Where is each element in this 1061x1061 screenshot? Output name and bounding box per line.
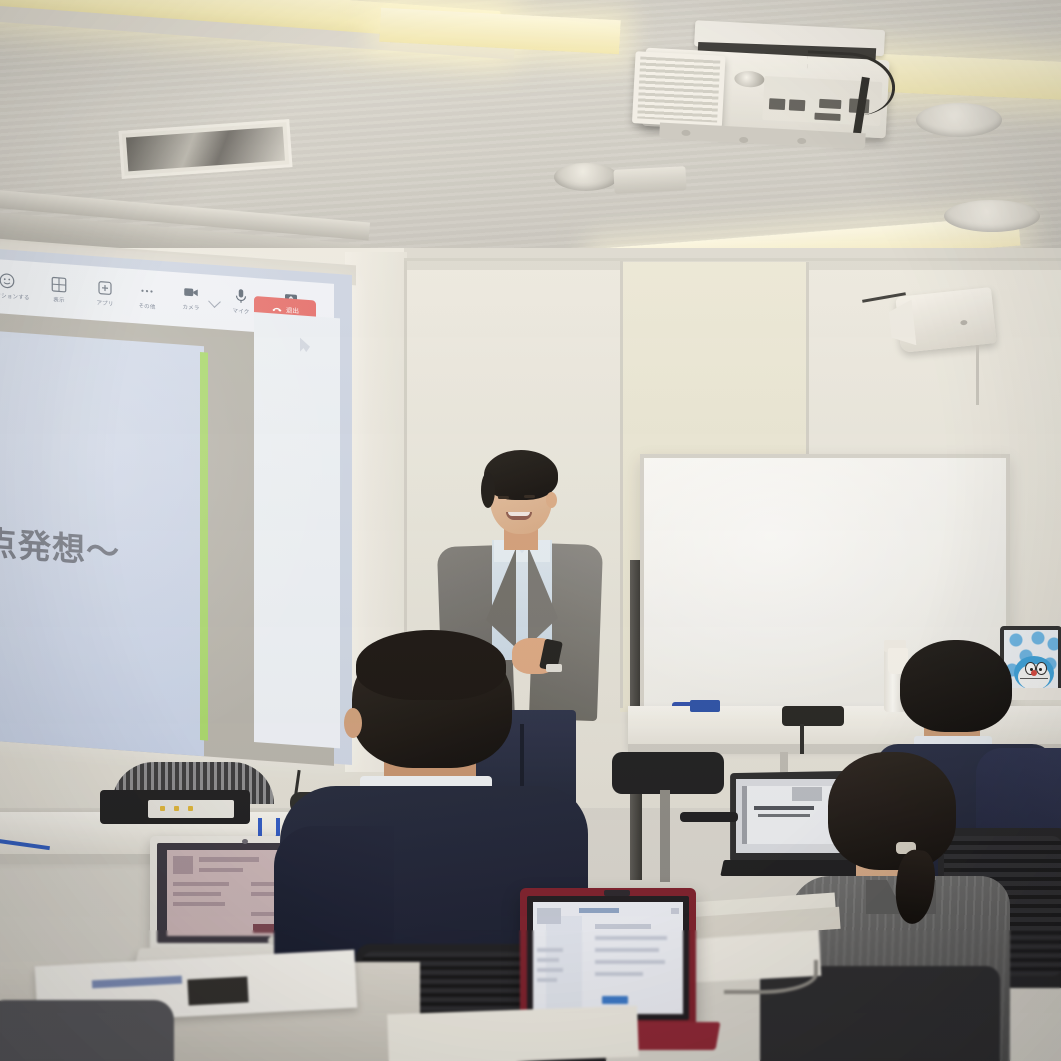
- partition-top-rail: [404, 258, 1061, 261]
- status-led-icon: [188, 806, 193, 811]
- camera-label: カメラ: [168, 302, 214, 313]
- window-control-icon: [671, 908, 679, 914]
- camera-icon-button[interactable]: カメラ: [168, 282, 214, 313]
- hub-cable: [800, 724, 804, 754]
- camera-icon: [182, 283, 200, 302]
- app-title: [579, 908, 619, 913]
- webcam-icon: [604, 890, 630, 896]
- chair-stem: [660, 790, 670, 882]
- smoke-detector-icon: [613, 166, 686, 194]
- apps-icon-button[interactable]: アプリ: [82, 277, 128, 308]
- foreground-chair: [0, 1000, 174, 1061]
- content-line: [199, 868, 243, 872]
- hair: [900, 640, 1012, 732]
- ceiling-speaker-icon: [554, 163, 618, 191]
- form-line: [595, 972, 643, 976]
- grille-slats: [637, 56, 720, 122]
- grid-view-icon-button[interactable]: 表示: [36, 274, 82, 305]
- sidebar-item: [537, 968, 563, 972]
- eye-icon: [524, 495, 535, 498]
- hair-top: [356, 630, 506, 700]
- ear: [344, 708, 362, 738]
- microphone-icon: [232, 286, 250, 305]
- ceiling-mounted-projector: [631, 21, 899, 153]
- sidebar-item: [537, 958, 559, 962]
- apps-icon: [96, 278, 114, 297]
- form-heading: [595, 924, 651, 929]
- slide-accent-bar: [742, 786, 747, 844]
- seminar-room-photo: リアクションする 表示 アプリ その他: [0, 0, 1061, 1061]
- primary-button: [602, 996, 628, 1004]
- hair: [828, 752, 956, 870]
- reaction-icon-button[interactable]: リアクションする: [0, 270, 30, 301]
- content-line: [173, 882, 229, 886]
- status-led-icon: [160, 806, 165, 811]
- form-line: [595, 936, 667, 940]
- blue-desk-item: [690, 700, 720, 712]
- content-line: [199, 857, 259, 862]
- form-line: [595, 960, 665, 964]
- reaction-icon: [0, 271, 16, 290]
- wall-partition-panel: [620, 258, 623, 708]
- usb-port-icon: [789, 99, 806, 111]
- apps-label: アプリ: [82, 297, 128, 308]
- sidebar-logo: [537, 908, 561, 924]
- view-label: 表示: [36, 294, 82, 305]
- eye-icon: [498, 496, 509, 499]
- content-line: [173, 902, 225, 906]
- webcam-icon: [242, 839, 248, 844]
- speaker-indicator-icon: [960, 320, 967, 326]
- form-line: [595, 948, 659, 952]
- usb-hub: [782, 706, 844, 726]
- ventilation-grille-icon: [632, 51, 726, 128]
- grid-view-icon: [50, 275, 68, 294]
- content-line: [173, 892, 221, 896]
- more-label: その他: [124, 300, 170, 311]
- chair-armrest: [680, 812, 738, 822]
- teeth: [508, 512, 530, 516]
- hdmi-port-icon: [769, 98, 786, 110]
- reaction-label: リアクションする: [0, 290, 30, 301]
- handout-documents: [387, 1006, 639, 1061]
- speaker-mount-stem: [976, 345, 979, 405]
- hair-side: [481, 472, 495, 508]
- sidebar-item: [537, 948, 563, 952]
- avatar: [173, 856, 193, 874]
- mesh-office-chair: [612, 752, 724, 794]
- wall-mounted-speaker: [895, 287, 996, 353]
- ear: [546, 492, 557, 508]
- recessed-ceiling-light: [944, 200, 1040, 232]
- hair: [484, 450, 558, 500]
- more-icon: [138, 281, 156, 300]
- more-icon-button[interactable]: その他: [124, 280, 170, 311]
- status-led-icon: [174, 806, 179, 811]
- sidebar-item: [537, 978, 557, 982]
- vent-louvers: [126, 127, 285, 172]
- recessed-ceiling-light: [916, 103, 1002, 137]
- handout-image-block: [187, 976, 248, 1005]
